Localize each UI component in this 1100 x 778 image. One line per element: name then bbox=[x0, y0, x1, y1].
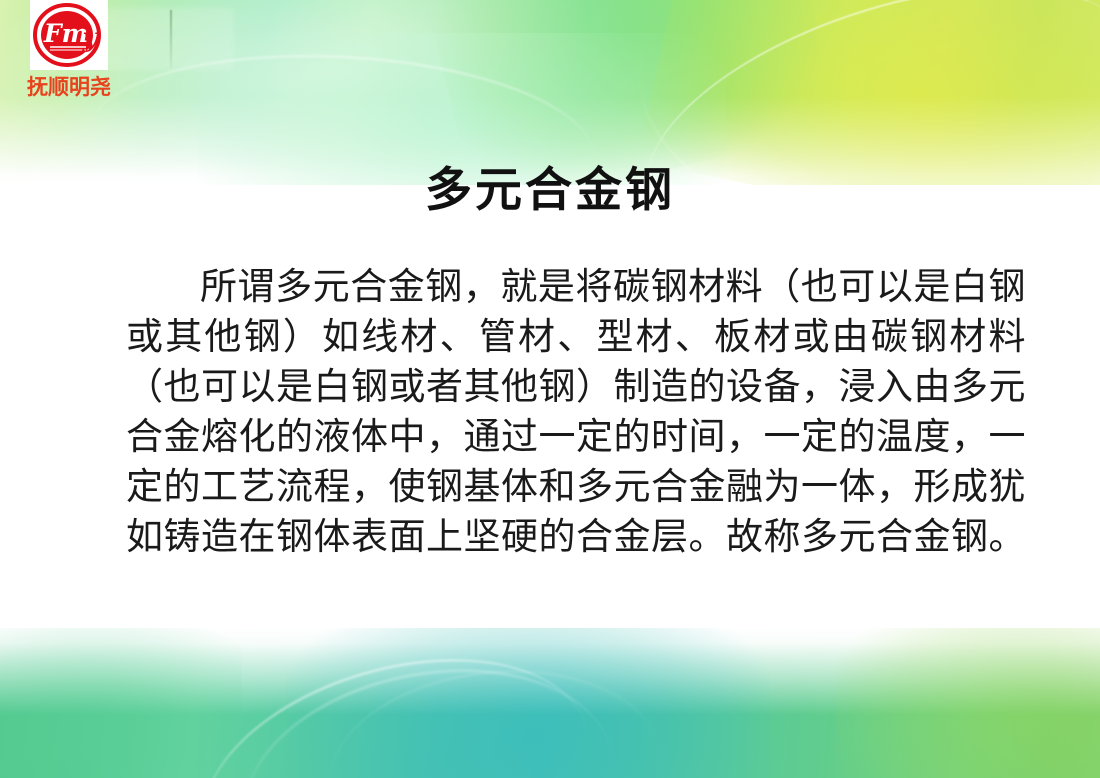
logo-caption: 抚顺明尧 bbox=[13, 77, 125, 98]
slide-body-paragraph: 所谓多元合金钢，就是将碳钢材料（也可以是白钢或其他钢）如线材、管材、型材、板材或… bbox=[126, 262, 1026, 562]
slide-content: 多元合金钢 所谓多元合金钢，就是将碳钢材料（也可以是白钢或其他钢）如线材、管材、… bbox=[0, 0, 1100, 778]
fmy-logo-icon: Fm y bbox=[30, 0, 108, 70]
presentation-slide: Fm y 抚顺明尧 多元合金钢 所谓多元合金钢，就是将碳钢材料（也可以是白钢或其… bbox=[0, 0, 1100, 778]
slide-title: 多元合金钢 bbox=[0, 163, 1100, 219]
logo-mark-plate: Fm y bbox=[30, 0, 108, 70]
company-logo: Fm y 抚顺明尧 bbox=[30, 0, 108, 98]
svg-text:Fm: Fm bbox=[43, 19, 88, 48]
svg-text:y: y bbox=[81, 23, 99, 53]
